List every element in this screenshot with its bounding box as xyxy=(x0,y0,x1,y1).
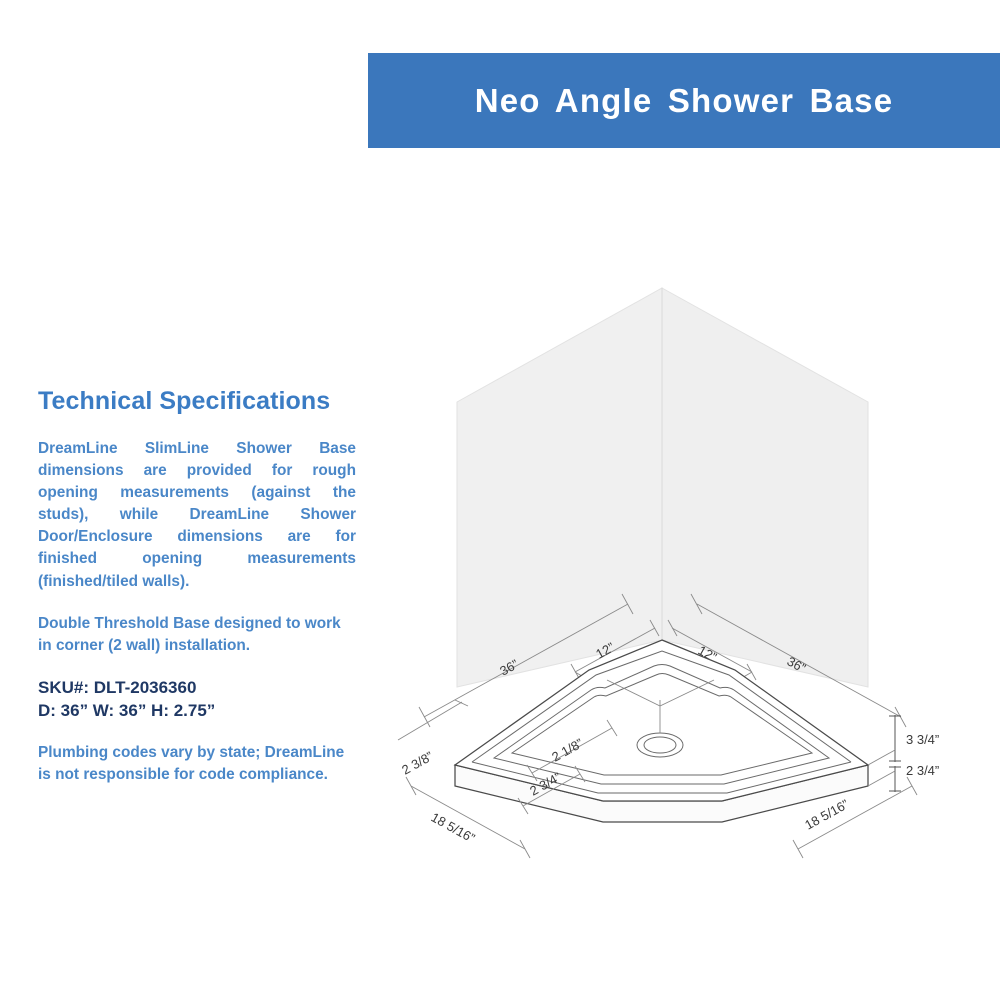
dimension-left-width: 36” xyxy=(419,594,633,727)
leader-left-bevel xyxy=(575,672,587,679)
dimension-label-left-threshold-offset: 2 3/8” xyxy=(399,748,435,777)
dimension-label-right-front-run: 18 5/16” xyxy=(802,796,851,832)
dimension-label-right-width: 36” xyxy=(785,654,809,676)
leader-right-bevel xyxy=(740,672,752,679)
dimension-label-base-height: 2 3/4” xyxy=(906,763,939,778)
title-banner: Neo Angle Shower Base xyxy=(368,53,1000,148)
dimension-inner-offset: 2 1/8” xyxy=(527,720,617,781)
product-dimensions: D: 36” W: 36” H: 2.75” xyxy=(38,700,356,723)
sku-block: SKU#: DLT-2036360 D: 36” W: 36” H: 2.75” xyxy=(38,677,356,722)
technical-specifications-panel: Technical Specifications DreamLine SlimL… xyxy=(38,388,356,807)
dimension-right-width: 36” xyxy=(691,594,906,727)
base-threshold-outer-line xyxy=(472,762,851,793)
dimension-label-left-width: 36” xyxy=(497,656,521,678)
base-inner-secondary-outline xyxy=(512,674,812,776)
left-wall-panel xyxy=(457,288,662,687)
dimension-label-overall-height: 3 3/4” xyxy=(906,732,939,747)
base-top-surface xyxy=(455,640,868,801)
leader-right-corner-top xyxy=(868,750,895,765)
dimension-label-right-bevel: 12” xyxy=(696,643,720,665)
base-inner-basin-outline xyxy=(494,665,829,785)
dimension-right-front-run: 18 5/16” xyxy=(793,777,917,858)
spec-heading: Technical Specifications xyxy=(38,388,356,416)
leader-right-corner-bottom xyxy=(868,771,895,786)
drain xyxy=(637,733,683,757)
dimension-left-front-run: 18 5/16” xyxy=(406,777,530,858)
dimension-front-threshold: 2 3/4” xyxy=(518,766,585,814)
dimension-overall-height: 3 3/4” xyxy=(889,715,939,762)
base-threshold-back-line xyxy=(472,651,851,762)
page-title: Neo Angle Shower Base xyxy=(475,82,894,120)
drain-guide-lines xyxy=(607,680,714,706)
dimension-left-threshold-offset: 2 3/8” xyxy=(398,700,468,778)
dimension-label-front-threshold: 2 3/4” xyxy=(527,769,563,798)
dimension-label-left-bevel: 12” xyxy=(593,639,617,661)
right-wall-panel xyxy=(662,288,868,687)
spec-paragraph-dimensions: DreamLine SlimLine Shower Base dimension… xyxy=(38,438,356,593)
dimension-label-inner-offset: 2 1/8” xyxy=(549,735,585,764)
spec-paragraph-plumbing-code: Plumbing codes vary by state; DreamLine … xyxy=(38,742,356,786)
dimension-right-bevel: 12” xyxy=(668,620,756,680)
base-front-face xyxy=(455,765,868,822)
sku-number: SKU#: DLT-2036360 xyxy=(38,677,356,700)
dimension-base-height: 2 3/4” xyxy=(889,763,939,792)
dimension-label-left-front-run: 18 5/16” xyxy=(429,810,478,846)
dimension-left-bevel: 12” xyxy=(571,620,659,680)
spec-paragraph-threshold: Double Threshold Base designed to work i… xyxy=(38,613,356,657)
